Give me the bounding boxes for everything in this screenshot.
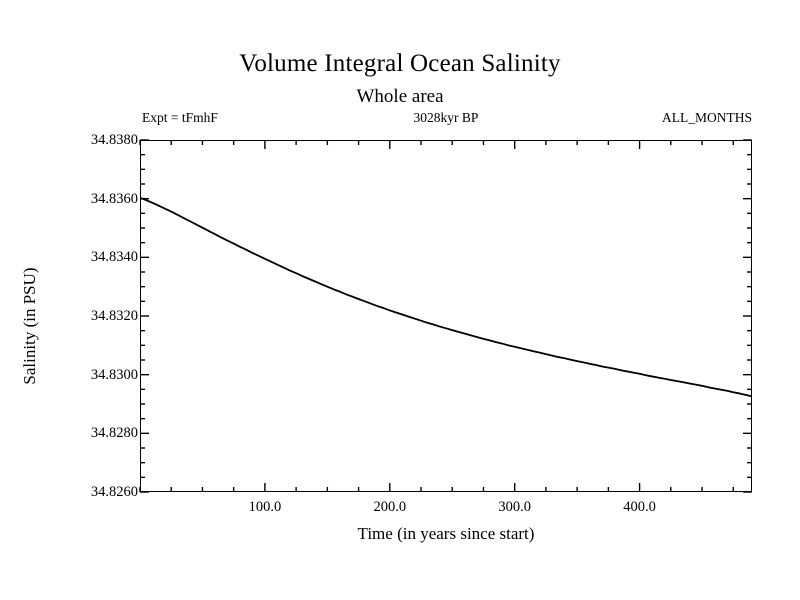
x-axis-ticklabel: 100.0 xyxy=(249,500,282,515)
page-title: Volume Integral Ocean Salinity xyxy=(0,50,800,78)
x-axis-title: Time (in years since start) xyxy=(140,524,752,544)
plot-area xyxy=(140,140,752,492)
chart-page: Volume Integral Ocean Salinity Whole are… xyxy=(0,0,800,600)
chart-meta-row: Expt = tFmhF 3028kyr BP ALL_MONTHS xyxy=(140,110,752,130)
y-axis-ticklabel: 34.8360 xyxy=(91,192,138,207)
x-axis-ticklabel: 200.0 xyxy=(373,500,406,515)
y-axis-ticklabel: 34.8300 xyxy=(91,368,138,383)
y-axis-ticklabel: 34.8260 xyxy=(91,485,138,500)
y-axis-title: Salinity (in PSU) xyxy=(20,267,40,384)
chart-subtitle: Whole area xyxy=(0,86,800,108)
months-label: ALL_MONTHS xyxy=(662,110,752,126)
time-period-label: 3028kyr BP xyxy=(140,110,752,126)
salinity-curve-path xyxy=(140,198,752,397)
y-axis-ticklabel: 34.8380 xyxy=(91,133,138,148)
data-series-line xyxy=(140,140,752,492)
x-axis-ticklabel: 300.0 xyxy=(498,500,531,515)
y-axis-ticklabel: 34.8340 xyxy=(91,250,138,265)
y-axis-ticklabel: 34.8320 xyxy=(91,309,138,324)
x-axis-ticklabel: 400.0 xyxy=(623,500,656,515)
y-axis-ticklabel: 34.8280 xyxy=(91,426,138,441)
